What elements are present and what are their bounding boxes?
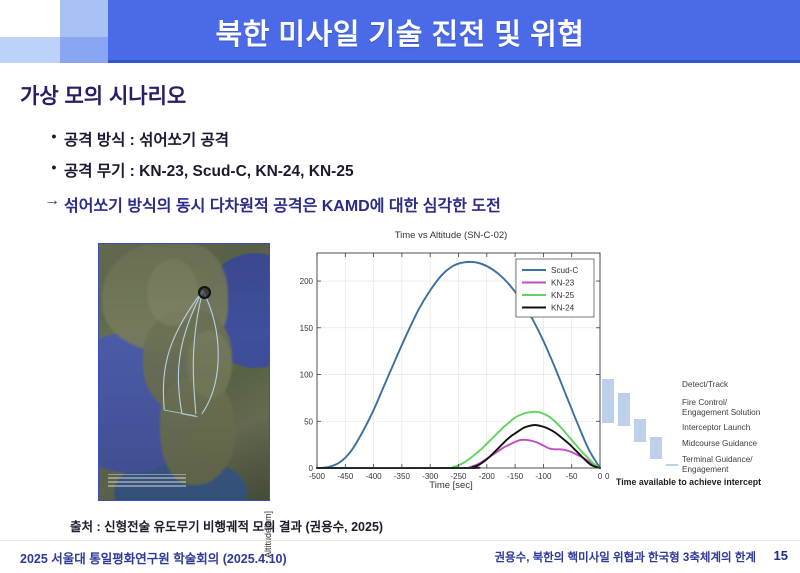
timeline-step-label: Detect/Track [682, 380, 728, 390]
svg-text:KN-25: KN-25 [551, 291, 575, 300]
footer-conference: 2025 서울대 통일평화연구원 학술회의 (2025.4.10) [20, 548, 287, 567]
svg-text:KN-23: KN-23 [551, 279, 575, 288]
svg-text:KN-24: KN-24 [551, 304, 575, 313]
timeline-step-label: Terminal Guidance/ Engagement [682, 455, 753, 474]
intercept-caption: Time available to achieve intercept [616, 477, 761, 487]
section-subtitle: 가상 모의 시나리오 [20, 80, 186, 110]
missile-trajectory-paths [99, 244, 269, 499]
timeline-step-label: Midcourse Guidance [682, 439, 757, 449]
svg-text:0: 0 [309, 464, 314, 473]
launch-site-marker-icon [198, 286, 211, 299]
chart-canvas: -500-450-400-350-300-250-200-150-100-500… [286, 228, 616, 503]
slide-header: 북한 미사일 기술 진전 및 위협 [0, 0, 800, 63]
svg-text:Scud-C: Scud-C [551, 266, 578, 275]
conclusion-text: 섞어쏘기 방식의 동시 다차원적 공격은 KAMD에 대한 심각한 도전 [64, 192, 501, 216]
bullet-item: • 공격 방식 : 섞어쏘기 공격 [44, 128, 229, 150]
bullet-item: • 공격 무기 : KN-23, Scud-C, KN-24, KN-25 [44, 159, 354, 181]
bullet-marker-icon: • [44, 159, 64, 176]
footer-presentation-title: 권용수, 북한의 핵미사일 위협과 한국형 3축체계의 한계 [494, 549, 756, 565]
conclusion-line: → 섞어쏘기 방식의 동시 다차원적 공격은 KAMD에 대한 심각한 도전 [44, 192, 501, 216]
timeline-step-bar [602, 379, 614, 423]
arrow-right-icon: → [44, 192, 64, 210]
page-number: 15 [774, 548, 788, 563]
svg-text:200: 200 [300, 277, 314, 286]
trajectory-map-image [98, 243, 270, 501]
timeline-step-label: Interceptor Launch [682, 423, 750, 433]
chart-x-axis-label: Time [sec] [286, 480, 616, 491]
slide-title: 북한 미사일 기술 진전 및 위협 [0, 0, 800, 63]
timeline-step-bar [650, 437, 662, 459]
map-watermark [108, 474, 186, 487]
svg-text:100: 100 [300, 371, 314, 380]
timeline-step-label: Fire Control/ Engagement Solution [682, 398, 760, 417]
footer-divider [0, 540, 800, 541]
altitude-time-chart: Time vs Altitude (SN-C-02) -500-450-400-… [286, 228, 616, 503]
bullet-marker-icon: • [44, 128, 64, 145]
svg-text:150: 150 [300, 324, 314, 333]
timeline-step-bar [618, 393, 630, 426]
bullet-text: 공격 방식 : 섞어쏘기 공격 [64, 128, 229, 150]
source-note: 출처 : 신형전술 유도무기 비행궤적 모의 결과 (권용수, 2025) [70, 516, 383, 535]
svg-text:50: 50 [304, 417, 313, 426]
timeline-step-bar [666, 464, 678, 466]
timeline-step-bar [634, 419, 646, 442]
bullet-text: 공격 무기 : KN-23, Scud-C, KN-24, KN-25 [64, 159, 354, 181]
